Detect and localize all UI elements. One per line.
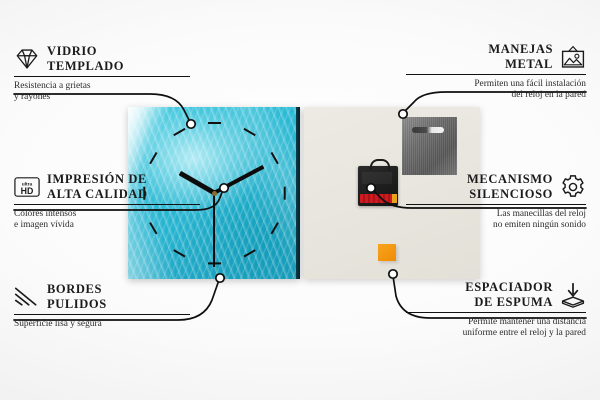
feature-underline: [14, 76, 190, 77]
polished-edges-icon: [14, 284, 40, 310]
battery-compartment: [360, 194, 394, 203]
feature-title: MANEJAS METAL: [488, 42, 553, 71]
feature-underline: [406, 204, 586, 205]
foam-spacer-icon: [560, 282, 586, 308]
feature-impresion-alta-calidad[interactable]: ultra HD IMPRESIÓN DE ALTA CALIDAD Color…: [14, 172, 204, 232]
clock-hour-mark: [283, 186, 285, 199]
feature-manejas-metal[interactable]: MANEJAS METAL Permiten una fácil instala…: [406, 42, 586, 102]
clock-hour-mark: [243, 249, 255, 258]
clock-hour-mark: [270, 222, 279, 234]
feature-bordes-pulidos[interactable]: BORDES PULIDOS Superficie lisa y segura: [14, 282, 194, 330]
feature-subtitle: Permiten una fácil instalación del reloj…: [406, 79, 586, 102]
ultra-hd-icon: ultra HD: [14, 174, 40, 200]
clock-hour-mark: [243, 128, 255, 137]
clock-mechanism: [358, 166, 398, 206]
clock-minute-hand: [213, 165, 264, 195]
feature-subtitle: Superficie lisa y segura: [14, 319, 194, 330]
battery-terminal: [392, 194, 397, 203]
clock-hour-mark: [270, 152, 279, 164]
feature-mecanismo-silencioso[interactable]: MECANISMO SILENCIOSO Las manecillas del …: [406, 172, 586, 232]
mechanism-hanging-loop: [370, 159, 390, 170]
feature-subtitle: Las manecillas del reloj no emiten ningú…: [406, 209, 586, 232]
feature-title: MECANISMO SILENCIOSO: [467, 172, 553, 201]
mechanism-housing-detail: [362, 172, 392, 184]
clock-center-cap: [212, 191, 217, 196]
feature-underline: [14, 314, 190, 315]
gear-icon: [560, 174, 586, 200]
feature-subtitle: Permite mantener una distancia uniforme …: [406, 317, 586, 340]
foam-spacer-pad: [378, 244, 396, 261]
feature-title: ESPACIADOR DE ESPUMA: [465, 280, 553, 309]
feature-espaciador-espuma[interactable]: ESPACIADOR DE ESPUMA Permite mantener un…: [406, 280, 586, 340]
diamond-icon: [14, 46, 40, 72]
clock-hour-mark: [173, 249, 185, 258]
clock-hour-mark: [149, 152, 158, 164]
feature-underline: [14, 204, 200, 205]
hanging-frame-icon: [560, 44, 586, 70]
clock-second-hand: [213, 193, 214, 267]
feature-subtitle: Colores intensos e imagen vívida: [14, 209, 204, 232]
svg-text:HD: HD: [21, 185, 34, 195]
infographic-canvas: VIDRIO TEMPLADO Resistencia a grietas y …: [0, 0, 600, 400]
feature-underline: [406, 312, 586, 313]
clock-hour-mark: [208, 122, 221, 124]
glass-side-edge: [296, 107, 300, 279]
feature-title: VIDRIO TEMPLADO: [47, 44, 124, 73]
hanger-keyhole-slot: [412, 127, 444, 133]
feature-title: BORDES PULIDOS: [47, 282, 107, 311]
feature-subtitle: Resistencia a grietas y rayones: [14, 81, 194, 104]
clock-hour-mark: [173, 128, 185, 137]
hanger-plate: [402, 117, 457, 175]
feature-vidrio-templado[interactable]: VIDRIO TEMPLADO Resistencia a grietas y …: [14, 44, 194, 104]
feature-underline: [406, 74, 586, 75]
feature-title: IMPRESIÓN DE ALTA CALIDAD: [47, 172, 148, 201]
